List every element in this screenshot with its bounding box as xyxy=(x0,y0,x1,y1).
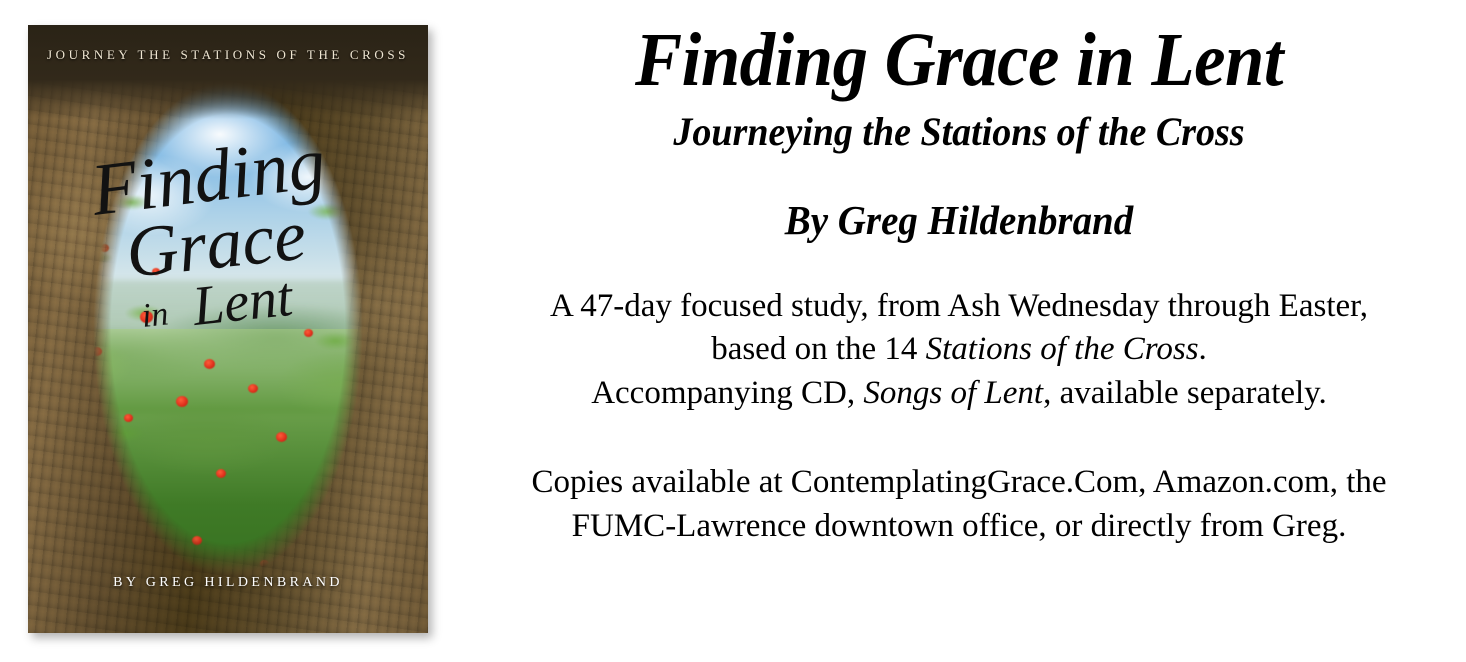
cover-script-line-in: in xyxy=(140,295,170,335)
cover-top-band xyxy=(28,25,428,119)
page-subtitle: Journeying the Stations of the Cross xyxy=(500,110,1418,154)
availability-line-2: FUMC-Lawrence downtown office, or direct… xyxy=(476,505,1442,549)
book-cover-image: Finding Grace in Lent JOURNEY THE STATIO… xyxy=(28,25,428,633)
description-line-2: based on the 14 Stations of the Cross. xyxy=(476,328,1442,372)
poster-page: Finding Grace in Lent JOURNEY THE STATIO… xyxy=(0,0,1466,662)
description-line-1: A 47-day focused study, from Ash Wednesd… xyxy=(476,285,1442,329)
description-line-3-suffix: , available separately. xyxy=(1043,375,1327,411)
promo-copy-column: Finding Grace in Lent Journeying the Sta… xyxy=(476,22,1442,548)
songs-of-lent-title: Songs of Lent xyxy=(863,375,1043,411)
description-paragraph: A 47-day focused study, from Ash Wednesd… xyxy=(476,285,1442,416)
book-cover: Finding Grace in Lent JOURNEY THE STATIO… xyxy=(28,25,428,633)
description-line-3: Accompanying CD, Songs of Lent, availabl… xyxy=(476,372,1442,416)
description-line-2-prefix: based on the 14 xyxy=(711,331,925,367)
stations-of-the-cross-title: Stations of the Cross xyxy=(926,331,1199,367)
cover-kicker-text: JOURNEY THE STATIONS OF THE CROSS xyxy=(28,47,428,63)
page-title: Finding Grace in Lent xyxy=(510,22,1408,100)
cover-byline-text: BY GREG HILDENBRAND xyxy=(28,575,428,591)
description-line-3-prefix: Accompanying CD, xyxy=(591,375,863,411)
cover-script-title: Finding Grace in Lent xyxy=(70,137,402,347)
cover-script-line-lent: Lent xyxy=(189,266,297,338)
availability-line-1: Copies available at ContemplatingGrace.C… xyxy=(476,461,1442,505)
author-byline: By Greg Hildenbrand xyxy=(500,198,1418,243)
availability-paragraph: Copies available at ContemplatingGrace.C… xyxy=(476,461,1442,548)
description-line-2-suffix: . xyxy=(1199,331,1207,367)
